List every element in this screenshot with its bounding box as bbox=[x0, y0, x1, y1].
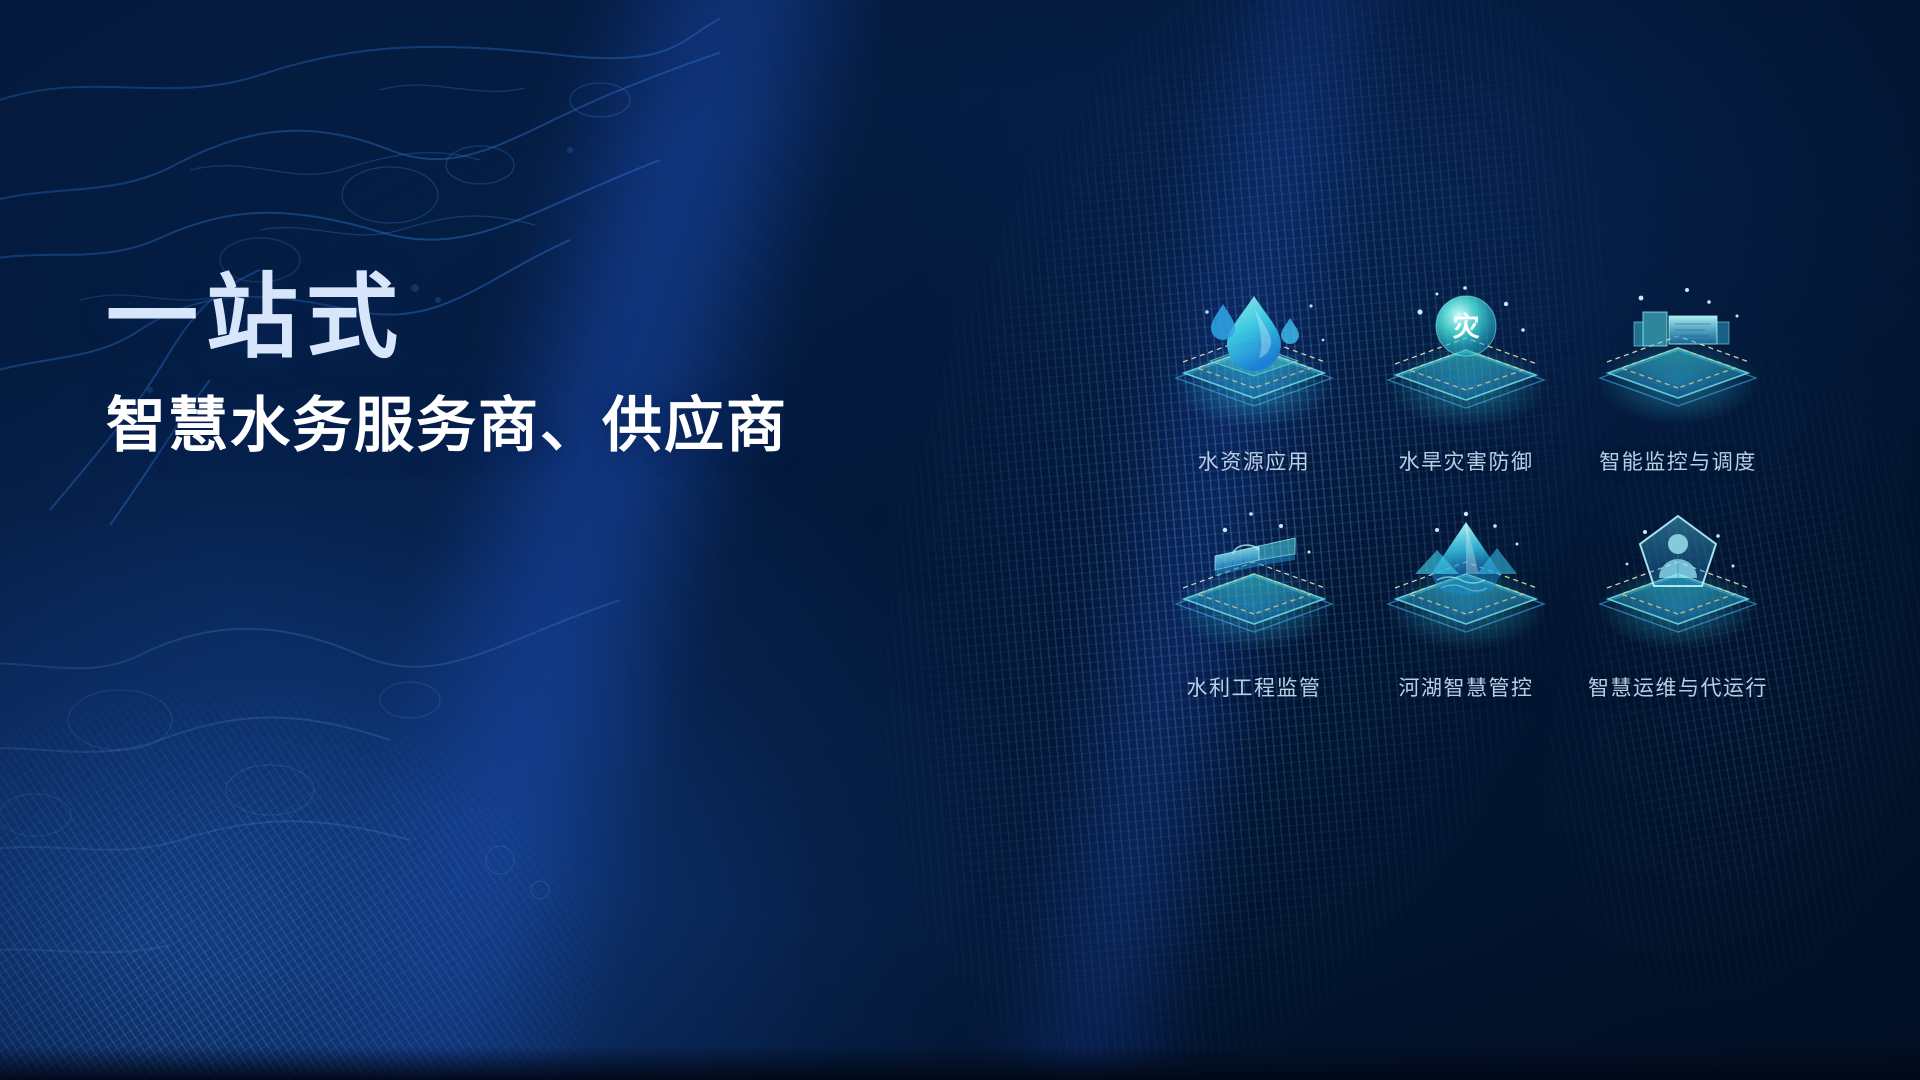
slide-canvas: 一站式 智慧水务服务商、供应商 bbox=[0, 0, 1920, 1080]
page-title: 一站式 bbox=[106, 272, 788, 364]
headline-block: 一站式 智慧水务服务商、供应商 bbox=[106, 272, 788, 457]
dam-icon bbox=[1163, 508, 1345, 660]
service-card-flood-drought-defense[interactable]: 灾 水旱灾害防御 bbox=[1360, 282, 1572, 508]
bottom-fade-overlay bbox=[0, 1046, 1920, 1080]
service-card-smart-ops[interactable]: 智慧运维与代运行 bbox=[1572, 508, 1784, 734]
monitor-wall-icon bbox=[1587, 282, 1769, 434]
water-drop-icon bbox=[1163, 282, 1345, 434]
disaster-character: 灾 bbox=[1453, 311, 1480, 342]
mountain-river-icon bbox=[1375, 508, 1557, 660]
disaster-sphere-icon: 灾 bbox=[1375, 282, 1557, 434]
service-label: 河湖智慧管控 bbox=[1399, 672, 1534, 702]
service-label: 水旱灾害防御 bbox=[1399, 446, 1534, 476]
service-label: 智慧运维与代运行 bbox=[1588, 672, 1768, 702]
page-subtitle: 智慧水务服务商、供应商 bbox=[106, 394, 788, 457]
service-icon-grid: 水资源应用 bbox=[1148, 282, 1784, 734]
shield-operator-icon bbox=[1587, 508, 1769, 660]
service-card-hydraulic-engineering[interactable]: 水利工程监管 bbox=[1148, 508, 1360, 734]
service-label: 水资源应用 bbox=[1198, 446, 1311, 476]
service-card-water-resource[interactable]: 水资源应用 bbox=[1148, 282, 1360, 508]
service-card-smart-monitoring[interactable]: 智能监控与调度 bbox=[1572, 282, 1784, 508]
service-label: 水利工程监管 bbox=[1187, 672, 1322, 702]
service-label: 智能监控与调度 bbox=[1599, 446, 1757, 476]
service-card-river-lake-control[interactable]: 河湖智慧管控 bbox=[1360, 508, 1572, 734]
